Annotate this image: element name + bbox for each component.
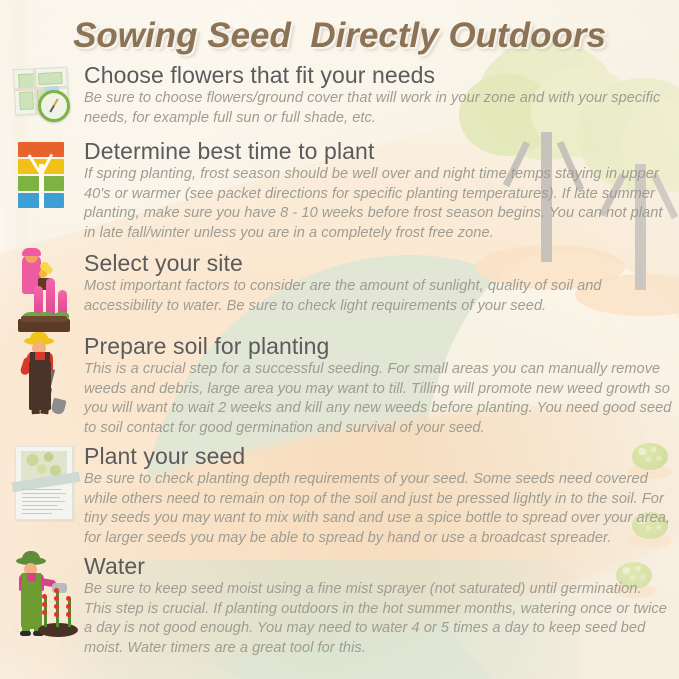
step-body: This is a crucial step for a successful … (84, 360, 673, 438)
flower-planter-icon (8, 250, 80, 328)
infographic-poster: Sowing Seed Directly Outdoors (0, 0, 679, 679)
step-heading: Prepare soil for planting (84, 333, 673, 359)
step-heading: Plant your seed (84, 443, 673, 469)
step-body: If spring planting, frost season should … (84, 165, 673, 243)
garden-plan-compass-icon (8, 62, 80, 140)
step-body: Be sure to choose flowers/ground cover t… (84, 89, 673, 128)
step-heading: Water (84, 553, 673, 579)
seed-packet-icon (8, 443, 80, 521)
step-item-best-time: Determine best time to plant If spring p… (8, 138, 673, 243)
step-body: Be sure to keep seed moist using a fine … (84, 580, 673, 658)
step-item-select-site: Select your site Most important factors … (8, 250, 673, 328)
gardener-shovel-icon (8, 333, 80, 411)
step-heading: Determine best time to plant (84, 138, 673, 164)
step-item-prepare-soil: Prepare soil for planting This is a cruc… (8, 333, 673, 438)
step-item-plant-seed: Plant your seed Be sure to check plantin… (8, 443, 673, 548)
gardener-watering-icon (8, 553, 80, 631)
step-item-choose-flowers: Choose flowers that fit your needs Be su… (8, 62, 673, 140)
step-body: Most important factors to consider are t… (84, 277, 673, 316)
step-heading: Select your site (84, 250, 673, 276)
page-title: Sowing Seed Directly Outdoors (0, 16, 679, 56)
step-item-water: Water Be sure to keep seed moist using a… (8, 553, 673, 658)
four-seasons-icon (8, 138, 80, 216)
poster-content: Sowing Seed Directly Outdoors (0, 0, 679, 679)
step-heading: Choose flowers that fit your needs (84, 62, 673, 88)
compass-icon (38, 90, 70, 122)
step-body: Be sure to check planting depth requirem… (84, 470, 673, 548)
